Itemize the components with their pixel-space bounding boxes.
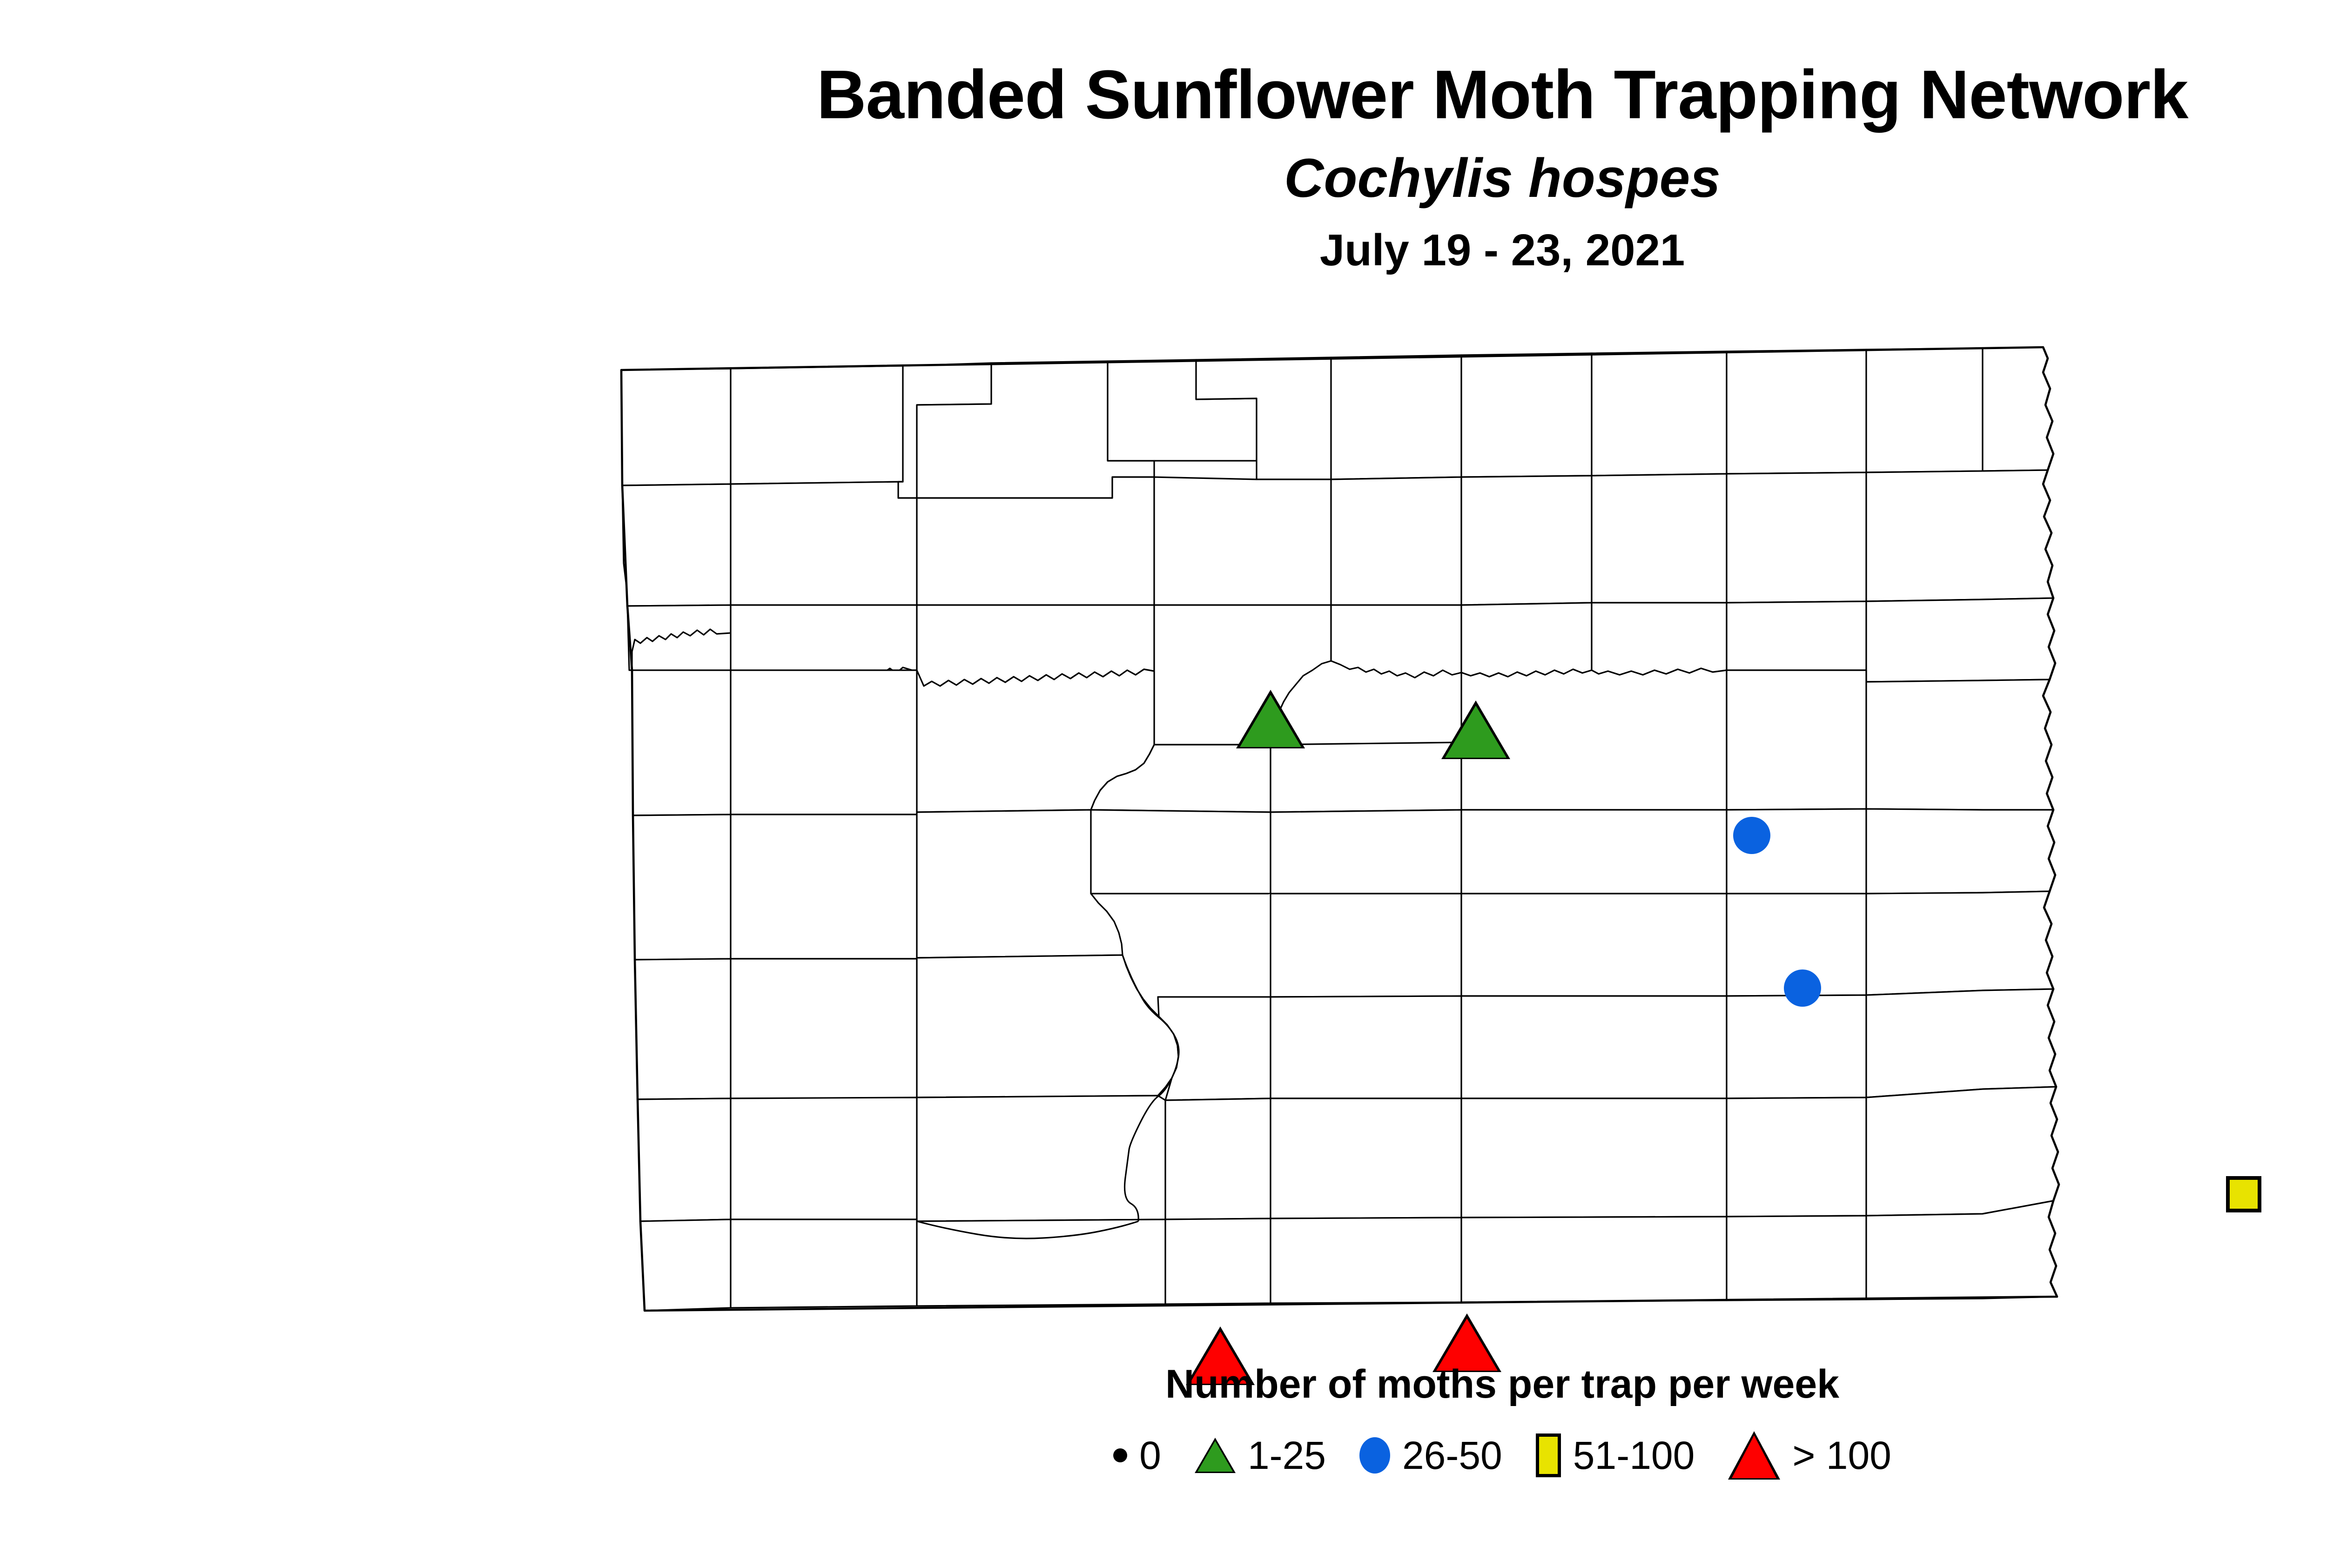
county-boundaries <box>621 347 2059 1311</box>
legend-item-over-100[interactable]: > 100 <box>1728 1431 1891 1480</box>
square-yellow-icon <box>1536 1433 1561 1477</box>
species-name: Cochylis hospes <box>0 151 2327 206</box>
page-title: Banded Sunflower Moth Trapping Network <box>0 61 2327 129</box>
legend-item-zero[interactable]: 0 <box>1113 1436 1161 1475</box>
legend: 0 1-25 26-50 51-100 > 100 <box>0 1431 2327 1480</box>
triangle-green-icon <box>1195 1438 1236 1473</box>
legend-item-1-25[interactable]: 1-25 <box>1195 1436 1326 1475</box>
trap-marker-circle-blue[interactable] <box>1784 969 1821 1007</box>
legend-item-26-50[interactable]: 26-50 <box>1359 1436 1502 1475</box>
trap-marker-triangle-green[interactable] <box>1236 690 1305 748</box>
legend-label: 0 <box>1139 1436 1161 1475</box>
circle-blue-icon <box>1359 1437 1390 1474</box>
title-block: Banded Sunflower Moth Trapping Network C… <box>0 61 2327 273</box>
trap-marker-circle-blue[interactable] <box>1733 817 1770 854</box>
legend-item-51-100[interactable]: 51-100 <box>1536 1433 1695 1477</box>
legend-label: 51-100 <box>1573 1436 1695 1475</box>
north-dakota-map <box>577 344 2262 1345</box>
legend-label: 1-25 <box>1248 1436 1326 1475</box>
triangle-red-icon <box>1728 1431 1780 1480</box>
legend-label: > 100 <box>1792 1436 1891 1475</box>
dot-icon <box>1113 1448 1127 1462</box>
poster-canvas: Banded Sunflower Moth Trapping Network C… <box>0 0 2327 1568</box>
trap-marker-triangle-green[interactable] <box>1441 700 1510 759</box>
map-svg <box>577 344 2262 1345</box>
legend-label: 26-50 <box>1402 1436 1502 1475</box>
date-range: July 19 - 23, 2021 <box>0 228 2327 273</box>
legend-title: Number of moths per trap per week <box>0 1361 2327 1407</box>
trap-marker-square-yellow[interactable] <box>2226 1176 2261 1212</box>
